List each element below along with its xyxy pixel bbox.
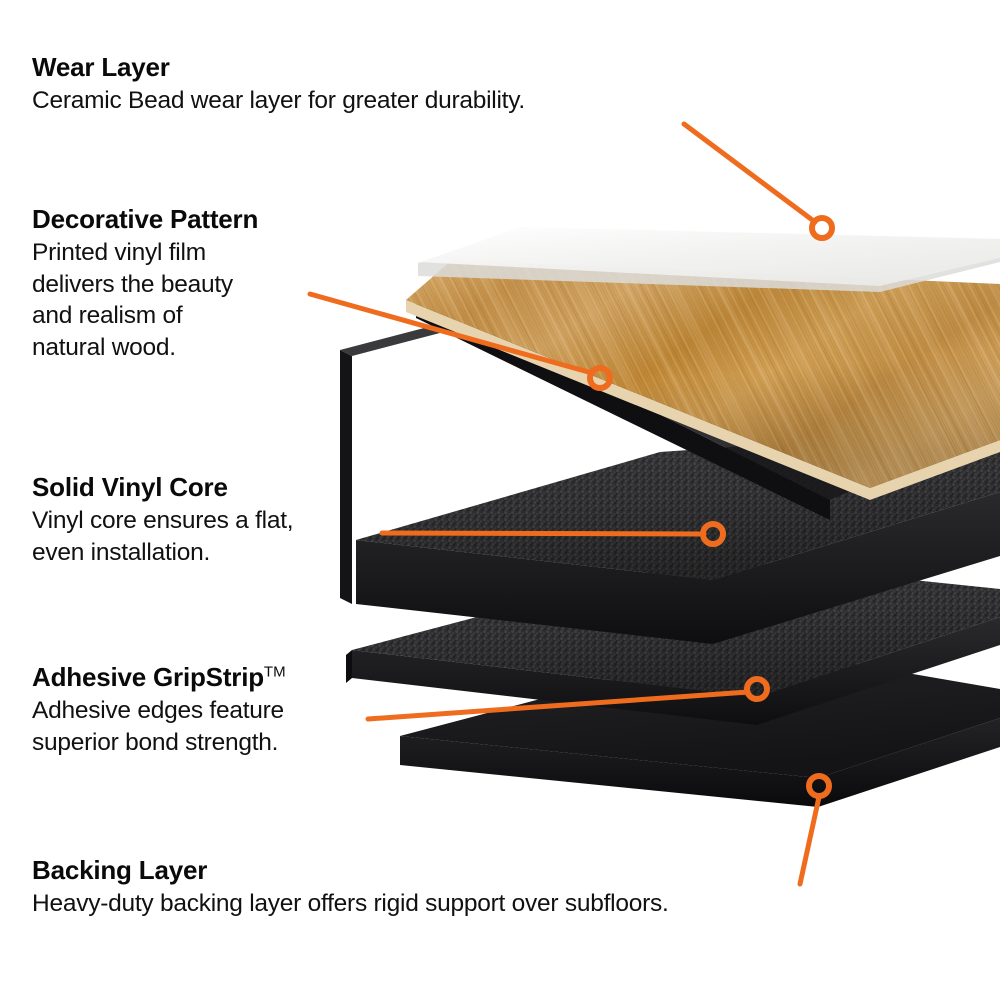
layer-solid-vinyl-core [340,316,1000,644]
layer-wear-layer [418,226,1000,292]
leader-line-adhesive-gripstrip [368,692,748,719]
callout-solid-vinyl-core: Solid Vinyl Core Vinyl core ensures a fl… [32,472,293,568]
callout-body-decorative-pattern: Printed vinyl film delivers the beauty a… [32,237,258,364]
trademark-symbol: TM [264,663,286,680]
marker-solid-vinyl-core [703,524,723,544]
callout-body-wear-layer: Ceramic Bead wear layer for greater dura… [32,85,525,117]
callout-title-decorative-pattern: Decorative Pattern [32,204,258,235]
callout-title-adhesive-gripstrip-text: Adhesive GripStrip [32,662,264,692]
callout-title-wear-layer: Wear Layer [32,52,525,83]
leader-line-solid-vinyl-core [382,533,704,534]
marker-backing-layer [809,776,829,796]
layer-decorative-pattern [406,260,1000,500]
marker-adhesive-gripstrip [747,679,767,699]
callout-title-backing-layer: Backing Layer [32,855,669,886]
callout-adhesive-gripstrip: Adhesive GripStripTM Adhesive edges feat… [32,662,286,758]
leader-line-wear-layer [684,124,815,222]
layer-core-top-rail [416,284,900,520]
callout-body-backing-layer: Heavy-duty backing layer offers rigid su… [32,888,669,920]
leader-line-backing-layer [800,797,819,884]
callout-decorative-pattern: Decorative Pattern Printed vinyl film de… [32,204,258,364]
marker-wear-layer [812,218,832,238]
callout-title-solid-vinyl-core: Solid Vinyl Core [32,472,293,503]
callout-wear-layer: Wear Layer Ceramic Bead wear layer for g… [32,52,525,117]
leader-line-decorative-pattern [310,294,592,373]
callout-title-adhesive-gripstrip: Adhesive GripStripTM [32,662,286,693]
callout-body-solid-vinyl-core: Vinyl core ensures a flat, even installa… [32,505,293,569]
marker-decorative-pattern [590,368,610,388]
layer-adhesive-gripstrip [346,558,1000,725]
layer-decorative-pattern-underside [430,318,1000,600]
product-layer-diagram: Wear Layer Ceramic Bead wear layer for g… [0,0,1000,1000]
callout-backing-layer: Backing Layer Heavy-duty backing layer o… [32,855,669,920]
layer-backing-layer [400,645,1000,807]
callout-body-adhesive-gripstrip: Adhesive edges feature superior bond str… [32,695,286,759]
